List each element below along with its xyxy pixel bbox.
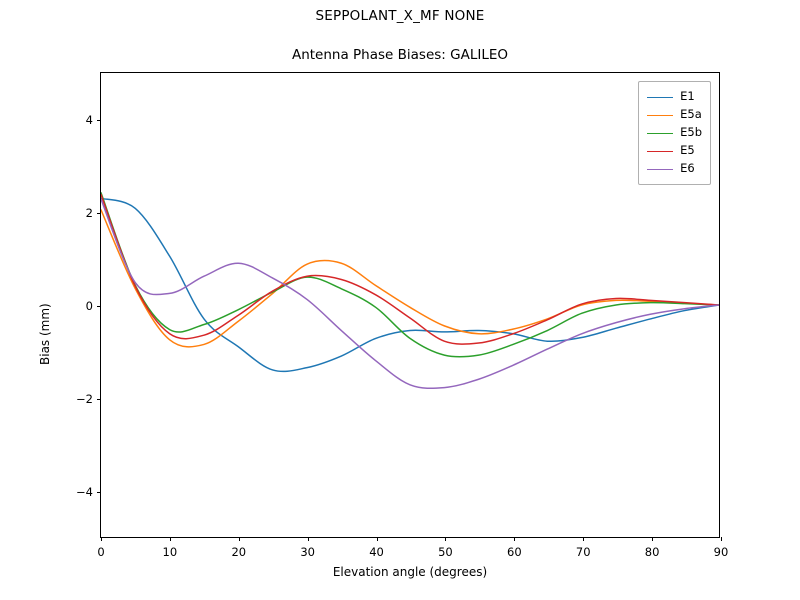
x-tick bbox=[721, 537, 722, 541]
y-axis-label: Bias (mm) bbox=[38, 303, 52, 365]
legend-line-swatch bbox=[647, 151, 673, 152]
x-tick-label: 0 bbox=[97, 545, 104, 559]
x-tick bbox=[377, 537, 378, 541]
series-line-e5b bbox=[101, 193, 719, 357]
legend-line-swatch bbox=[647, 133, 673, 134]
figure-suptitle: SEPPOLANT_X_MF NONE bbox=[0, 8, 800, 24]
legend-line-swatch bbox=[647, 97, 673, 98]
legend: E1E5aE5bE5E6 bbox=[638, 81, 711, 185]
x-tick-label: 50 bbox=[438, 545, 453, 559]
x-tick-label: 90 bbox=[714, 545, 729, 559]
legend-item: E1 bbox=[647, 88, 702, 106]
y-tick bbox=[97, 213, 101, 214]
x-tick bbox=[514, 537, 515, 541]
legend-label: E5 bbox=[680, 145, 695, 157]
series-line-e5 bbox=[101, 195, 719, 345]
y-tick bbox=[97, 492, 101, 493]
x-tick bbox=[445, 537, 446, 541]
x-tick bbox=[101, 537, 102, 541]
series-line-e6 bbox=[101, 199, 719, 388]
plot-lines bbox=[101, 73, 719, 537]
legend-label: E5a bbox=[680, 109, 702, 121]
x-tick-label: 60 bbox=[507, 545, 522, 559]
y-tick bbox=[97, 399, 101, 400]
legend-line-swatch bbox=[647, 169, 673, 170]
x-axis-label: Elevation angle (degrees) bbox=[100, 565, 720, 579]
legend-label: E5b bbox=[680, 127, 702, 139]
legend-label: E1 bbox=[680, 91, 695, 103]
x-tick bbox=[583, 537, 584, 541]
x-tick bbox=[239, 537, 240, 541]
figure: SEPPOLANT_X_MF NONE Antenna Phase Biases… bbox=[0, 0, 800, 600]
y-tick bbox=[97, 120, 101, 121]
x-tick bbox=[652, 537, 653, 541]
legend-item: E5b bbox=[647, 124, 702, 142]
legend-label: E6 bbox=[680, 163, 695, 175]
chart-title: Antenna Phase Biases: GALILEO bbox=[0, 47, 800, 63]
y-tick-label: 2 bbox=[65, 206, 93, 220]
series-line-e1 bbox=[101, 198, 719, 371]
y-tick bbox=[97, 306, 101, 307]
y-tick-label: −4 bbox=[65, 485, 93, 499]
plot-axes: E1E5aE5bE5E6 0102030405060708090−4−2024 bbox=[100, 72, 720, 538]
x-tick-label: 30 bbox=[300, 545, 315, 559]
x-tick-label: 10 bbox=[163, 545, 178, 559]
y-tick-label: −2 bbox=[65, 392, 93, 406]
x-tick-label: 80 bbox=[645, 545, 660, 559]
y-tick-label: 4 bbox=[65, 113, 93, 127]
legend-item: E5 bbox=[647, 142, 702, 160]
series-line-e5a bbox=[101, 210, 719, 347]
legend-item: E5a bbox=[647, 106, 702, 124]
x-tick bbox=[170, 537, 171, 541]
legend-line-swatch bbox=[647, 115, 673, 116]
x-tick-label: 20 bbox=[231, 545, 246, 559]
x-tick-label: 40 bbox=[369, 545, 384, 559]
y-tick-label: 0 bbox=[65, 299, 93, 313]
legend-item: E6 bbox=[647, 160, 702, 178]
x-tick bbox=[308, 537, 309, 541]
x-tick-label: 70 bbox=[576, 545, 591, 559]
